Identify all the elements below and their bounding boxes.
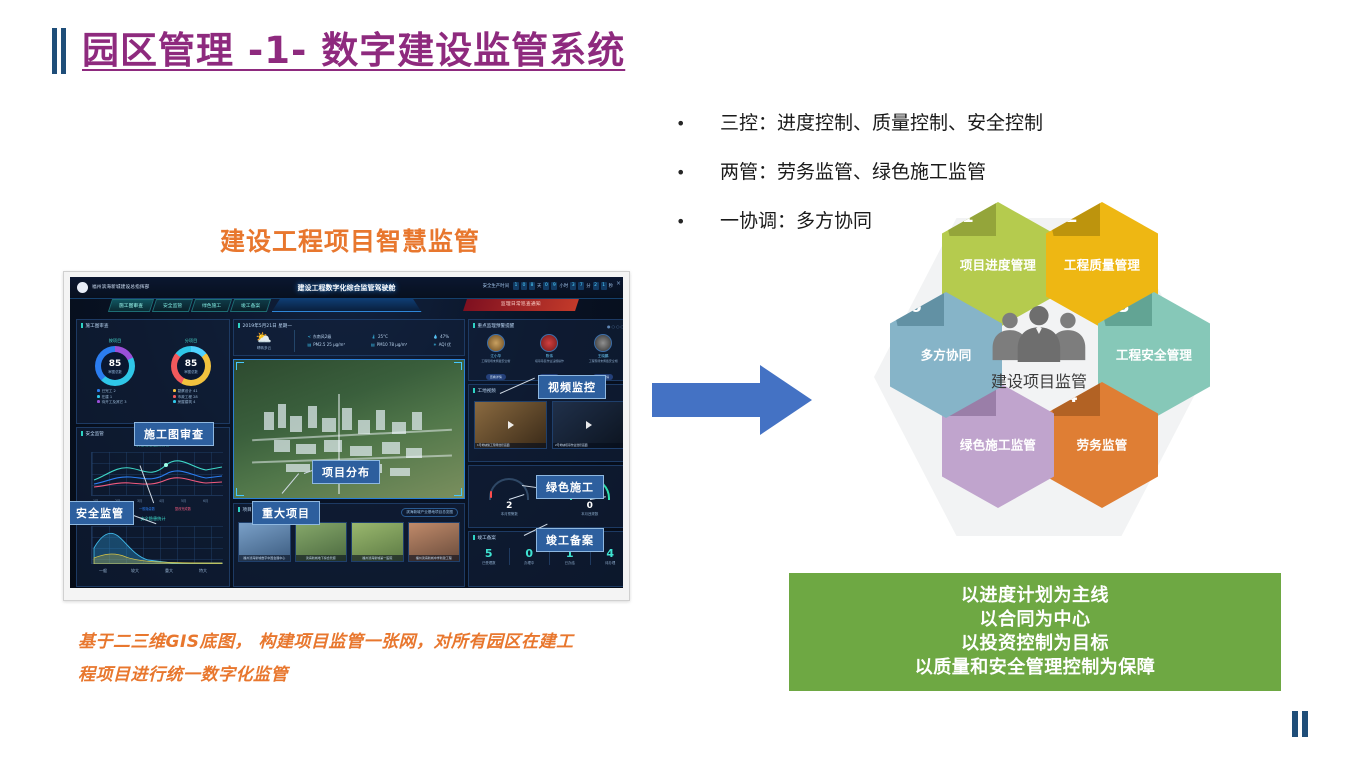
- thumbnail-row: 福州滨海新城数字中国会展中心 滨海新城地下综合管廊 福州滨海新城第一医院 福州滨…: [238, 522, 460, 562]
- gauge-needle: [509, 494, 525, 500]
- weather-content: ⛅ 晴转多云 ≺东南风2级 ▤PM2.5 25 μg/m³ 🌡25°C ▤PM1…: [234, 330, 464, 352]
- timer-digit: 0: [521, 282, 527, 290]
- alert-desc: 工程现场未佩戴安全帽: [581, 359, 623, 363]
- weather-metric-group: 💧47% ☀AQI 优: [433, 333, 451, 349]
- bullet-text: 三控：进度控制、质量控制、安全控制: [720, 110, 1043, 136]
- metric-text: PM10 78 μg/m³: [377, 342, 408, 347]
- hex-label: 绿色施工监管: [942, 438, 1054, 453]
- panel-title: 竣工备案: [473, 535, 496, 541]
- timer-unit: 天: [537, 283, 541, 289]
- title-text: 园区管理 -1- 数字建设监管系统: [82, 28, 625, 74]
- timer-digit: 3: [570, 282, 576, 290]
- bullet-icon: •: [676, 209, 720, 235]
- left-section-heading: 建设工程项目智慧监管: [60, 222, 640, 258]
- metric-text: 25°C: [378, 334, 388, 339]
- weather-metric: ☀AQI 优: [433, 341, 451, 349]
- axis-tick: 一般: [99, 568, 107, 574]
- gauge-threshold-marker: [490, 491, 492, 498]
- caption-line-2: 程项目进行统一数字化监管: [78, 659, 638, 692]
- timer-digit: 9: [551, 282, 557, 290]
- bullet-icon: •: [676, 111, 720, 137]
- sun-cloud-icon: ⛅: [234, 332, 294, 345]
- panel-title: 工地视频: [473, 388, 496, 394]
- donut-by-project: 按项目 85 审图总数 已完工 2 在建 1 待开工及其它 3: [93, 338, 137, 406]
- weather-metric: 🌡25°C: [371, 333, 407, 341]
- donut-legend: 已完工 2 在建 1 待开工及其它 3: [93, 389, 137, 406]
- thumbnail-caption: 滨海新城地下综合管廊: [296, 555, 347, 561]
- hex-label: 工程安全管理: [1098, 348, 1210, 363]
- dashboard-canvas: 福州滨海新城建设总指挥部 建设工程数字化综合监管驾驶舱 安全生产时间 1 0 8…: [70, 277, 623, 588]
- gauge-arc: [489, 478, 529, 500]
- play-icon[interactable]: [586, 421, 592, 429]
- video-tile[interactable]: 2号地块塔吊作业监控画面: [552, 401, 623, 449]
- principle-line-1: 以进度计划为主线: [961, 584, 1109, 608]
- hex-label: 工程质量管理: [1046, 258, 1158, 273]
- video-caption: 1号地块施工现场监控画面: [475, 443, 546, 448]
- stat-label: 已办结: [550, 560, 590, 565]
- weather-metric-group: ≺东南风2级 ▤PM2.5 25 μg/m³: [307, 333, 345, 349]
- video-caption: 2号地块塔吊作业监控画面: [553, 443, 623, 448]
- thumbnail-caption: 福州滨海新城第一医院: [352, 555, 403, 561]
- weather-date: 2019年5月21日 星期一: [238, 323, 292, 329]
- hexagon-diagram: 01 项目进度管理 02 工程质量管理 03 工程安全管理 04 劳务监管 05…: [846, 196, 1234, 558]
- tab-completion-filing[interactable]: 竣工备案: [230, 299, 271, 312]
- avatar: [487, 334, 505, 352]
- principle-line-4: 以质量和安全管理控制为保障: [915, 656, 1156, 680]
- legend-label: 一般隐患数: [139, 506, 155, 511]
- list-item[interactable]: 福州滨海新城数字中国会展中心: [238, 522, 291, 562]
- people-group-icon: [981, 306, 1097, 362]
- tab-label: 施工图审查: [119, 302, 143, 309]
- weather-metric-group: 🌡25°C ▤PM10 78 μg/m³: [371, 333, 407, 349]
- dashboard-header: 福州滨海新城建设总指挥部 建设工程数字化综合监管驾驶舱 安全生产时间 1 0 8…: [70, 277, 623, 299]
- list-item[interactable]: 滨海新城地下综合管廊: [295, 522, 348, 562]
- donut-value: 85: [185, 359, 198, 369]
- metric-text: 东南风2级: [313, 334, 332, 339]
- safety-timer-label: 安全生产时间: [483, 283, 509, 289]
- org-logo-icon: [77, 282, 88, 293]
- hex-label: 劳务监管: [1046, 438, 1158, 453]
- panel-title: 施工图审查: [81, 323, 108, 329]
- left-caption: 基于二三维GIS底图， 构建项目监管一张网，对所有园区在建工 程项目进行统一数字…: [78, 626, 638, 692]
- timer-digit: 1: [513, 282, 519, 290]
- axis-tick: 4月: [159, 498, 164, 503]
- alert-desc: 塔吊吊装作业违规操作: [527, 359, 571, 363]
- map-corner-bracket: [454, 362, 462, 370]
- safety-timer: 安全生产时间 1 0 8 天 0 9 小时 3 7 分 2 1 秒: [483, 282, 613, 290]
- area-chart-area: [91, 526, 223, 564]
- timer-unit: 分: [586, 283, 590, 289]
- org-name: 福州滨海新城建设总指挥部: [92, 284, 150, 290]
- stat-label: 待办理: [591, 560, 624, 565]
- hex-label: 项目进度管理: [942, 258, 1054, 273]
- tab-label: 绿色施工: [202, 302, 221, 309]
- map-corner-bracket: [236, 362, 244, 370]
- alert-desc: 工程现场未佩戴安全帽: [474, 359, 518, 363]
- alert-banner[interactable]: 监理日常巡查通知: [463, 299, 579, 311]
- legend-label: 市政工程 28: [178, 395, 198, 399]
- legend-label: 勘察设计 41: [178, 389, 198, 393]
- tab-label: 安全监管: [163, 302, 182, 309]
- donut-unit: 审图总数: [108, 369, 122, 374]
- thumbnail-caption: 福州滨海新城数字中国会展中心: [239, 555, 290, 561]
- callout-completion-filing[interactable]: 竣工备案: [536, 528, 604, 552]
- timer-digit: 0: [543, 282, 549, 290]
- view-detail-button[interactable]: 查看详情: [486, 374, 506, 380]
- panel-title: 重点监理预警提醒: [473, 323, 514, 329]
- legend-label: 整改完成数: [175, 506, 191, 511]
- callout-green-construction[interactable]: 绿色施工: [536, 475, 604, 499]
- weather-metric: ▤PM10 78 μg/m³: [371, 341, 407, 349]
- donut-by-category: 分项目 85 审图总数 勘察设计 41 市政工程 28 房屋建筑 4: [169, 338, 213, 406]
- pm25-icon: ▤: [307, 342, 311, 347]
- metric-text: PM2.5 25 μg/m³: [313, 342, 345, 347]
- panel-supervision-alerts: 重点监理预警提醒 ●○○○ 江小华 工程现场未佩戴安全帽 查看详情 陈伟 塔吊吊…: [468, 319, 623, 381]
- legend-item: 待开工及其它 3: [97, 400, 137, 406]
- tab-green-construction[interactable]: 绿色施工: [191, 299, 232, 312]
- panel-drawing-review: 施工图审查 按项目 85 审图总数 已完工 2 在建 1: [76, 319, 230, 424]
- page-title: 园区管理 -1- 数字建设监管系统: [52, 28, 625, 74]
- avatar: [540, 334, 558, 352]
- panel-weather: 2019年5月21日 星期一 ⛅ 晴转多云 ≺东南风2级 ▤PM2.5 25 μ…: [233, 319, 465, 356]
- callout-project-distribution[interactable]: 项目分布: [312, 460, 380, 484]
- timer-digit: 7: [578, 282, 584, 290]
- close-icon[interactable]: ×: [616, 280, 621, 287]
- dashboard-screenshot: 福州滨海新城建设总指挥部 建设工程数字化综合监管驾驶舱 安全生产时间 1 0 8…: [63, 271, 630, 601]
- weather-metric: ≺东南风2级: [307, 333, 345, 341]
- list-item[interactable]: 福州滨海新城中学新建工程: [408, 522, 461, 562]
- tab-label: 竣工备案: [241, 302, 260, 309]
- hexagon-center-label: 建设项目监管: [969, 368, 1109, 392]
- bullet-icon: •: [676, 160, 720, 186]
- video-tile[interactable]: 1号地块施工现场监控画面: [474, 401, 547, 449]
- stat-label: 已受理数: [469, 560, 509, 565]
- weather-desc: 晴转多云: [234, 346, 294, 351]
- axis-tick: 特大: [199, 568, 207, 574]
- play-icon[interactable]: [508, 421, 514, 429]
- area-chart-svg: [92, 526, 224, 564]
- humidity-icon: 💧: [433, 334, 438, 339]
- donut-group: 按项目 85 审图总数 已完工 2 在建 1 待开工及其它 3: [77, 338, 229, 406]
- footer-mark-icon: [1292, 711, 1310, 737]
- weather-metrics: ≺东南风2级 ▤PM2.5 25 μg/m³ 🌡25°C ▤PM10 78 μg…: [295, 333, 465, 349]
- gauge-label: 本月违规数: [560, 511, 620, 516]
- stat-item: 5 已受理数: [469, 548, 510, 565]
- caption-line-1: 基于二三维GIS底图， 构建项目监管一张网，对所有园区在建工: [78, 626, 638, 659]
- legend-label: 房屋建筑 4: [178, 400, 196, 404]
- alert-banner-label: 监理日常巡查通知: [465, 299, 577, 311]
- panel-title: 安全监管: [81, 431, 104, 437]
- timer-digit: 2: [593, 282, 599, 290]
- donut-unit: 审图总数: [184, 369, 198, 374]
- timer-digit: 8: [529, 282, 535, 290]
- weather-metric: ▤PM2.5 25 μg/m³: [307, 341, 345, 349]
- map-road: [252, 429, 452, 441]
- legend-item: 房屋建筑 4: [173, 400, 213, 406]
- gauge-monthly-warnings: 2 本月预警数: [479, 478, 539, 516]
- legend-label: 已完工 2: [102, 389, 116, 393]
- principle-line-3: 以投资控制为目标: [961, 632, 1109, 656]
- gauge-value: 2: [479, 501, 539, 511]
- axis-tick: 较大: [131, 568, 139, 574]
- title-bar-mark-icon: [52, 28, 68, 74]
- donut-caption: 分项目: [169, 338, 213, 344]
- donut-chart: 85 审图总数: [95, 346, 135, 386]
- metric-text: 47%: [440, 334, 449, 339]
- list-item: 江小华 工程现场未佩戴安全帽 查看详情: [474, 334, 518, 382]
- pagination-dots-icon[interactable]: ●○○○: [607, 324, 623, 329]
- gauge-value: 0: [560, 501, 620, 511]
- principle-line-2: 以合同为中心: [980, 608, 1091, 632]
- slide-canvas: 园区管理 -1- 数字建设监管系统 • 三控：进度控制、质量控制、安全控制 • …: [0, 0, 1352, 759]
- aqi-icon: ☀: [433, 342, 437, 347]
- list-item: • 三控：进度控制、质量控制、安全控制: [676, 110, 1196, 137]
- axis-tick: 3月: [137, 498, 142, 503]
- pm10-icon: ▤: [371, 342, 375, 347]
- callout-major-projects[interactable]: 重大项目: [252, 501, 320, 525]
- thumbnail-caption: 福州滨海新城中学新建工程: [409, 555, 460, 561]
- axis-tick: 重大: [165, 568, 173, 574]
- line-chart-svg: [92, 452, 224, 496]
- tab-safety-supervision[interactable]: 安全监管: [152, 299, 193, 312]
- timer-unit: 秒: [609, 283, 613, 289]
- timer-unit: 小时: [559, 283, 568, 289]
- timer-digit: 1: [601, 282, 607, 290]
- principles-box: 以进度计划为主线 以合同为中心 以投资控制为目标 以质量和安全管理控制为保障: [789, 573, 1281, 691]
- thermometer-icon: 🌡: [371, 334, 376, 339]
- weather-summary: ⛅ 晴转多云: [234, 332, 294, 351]
- avatar: [594, 334, 612, 352]
- donut-value: 85: [109, 359, 122, 369]
- list-item[interactable]: 福州滨海新城第一医院: [351, 522, 404, 562]
- legend-label: 在建 1: [102, 395, 113, 399]
- list-item: • 两管：劳务监管、绿色施工监管: [676, 159, 1196, 186]
- gauge-label: 本月预警数: [479, 511, 539, 516]
- donut-legend: 勘察设计 41 市政工程 28 房屋建筑 4: [169, 389, 213, 406]
- right-arrow-icon: [652, 363, 812, 437]
- donut-chart: 85 审图总数: [171, 346, 211, 386]
- bullet-text: 两管：劳务监管、绿色施工监管: [720, 159, 986, 185]
- title-banner-shape: [272, 298, 422, 312]
- metric-text: AQI 优: [439, 342, 451, 347]
- callout-construction-drawing-review[interactable]: 施工图审查: [134, 422, 214, 446]
- legend-label: 待开工及其它 3: [102, 400, 127, 404]
- tab-construction-drawing-review[interactable]: 施工图审查: [108, 299, 154, 312]
- donut-caption: 按项目: [93, 338, 137, 344]
- map-view-selector[interactable]: 滨海新城产业基地项目总览图: [401, 508, 458, 517]
- map-corner-bracket: [236, 488, 244, 496]
- callout-safety-supervision[interactable]: 安全监管: [70, 501, 134, 525]
- dashboard-tabs: 施工图审查 安全监管 绿色施工 竣工备案: [110, 299, 270, 312]
- weather-metric: 💧47%: [433, 333, 451, 341]
- axis-tick: 5月: [181, 498, 186, 503]
- hexagon-center: 建设项目监管: [969, 306, 1109, 392]
- stat-label: 办理中: [510, 560, 550, 565]
- axis-tick: 6月: [203, 498, 208, 503]
- dashboard-title: 建设工程数字化综合监管驾驶舱: [298, 283, 396, 293]
- video-row: 1号地块施工现场监控画面 2号地块塔吊作业监控画面: [474, 401, 623, 449]
- line-chart-area: [91, 452, 223, 496]
- map-corner-bracket: [454, 488, 462, 496]
- wind-icon: ≺: [307, 334, 310, 339]
- stat-value: 5: [469, 548, 509, 560]
- callout-video-monitoring[interactable]: 视频监控: [538, 375, 606, 399]
